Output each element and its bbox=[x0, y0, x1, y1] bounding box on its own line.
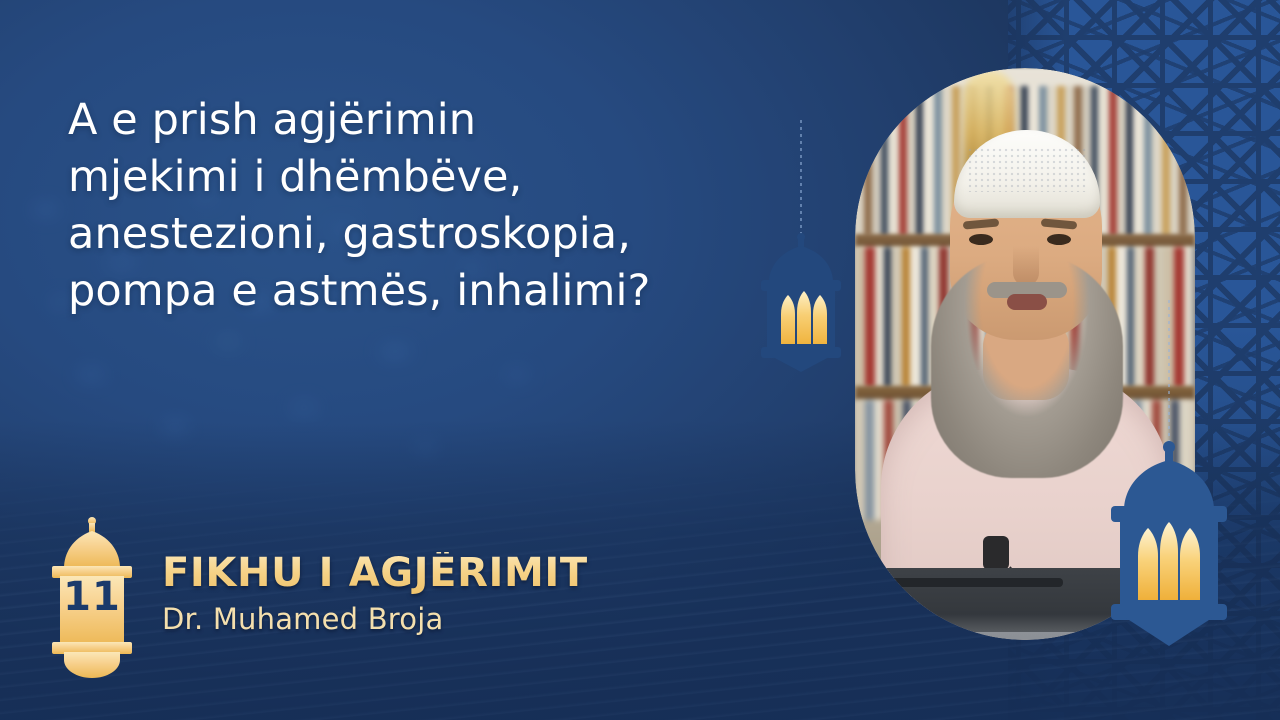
lower-third-banner: 11 FIKHU I AGJËRIMIT Dr. Muhamed Broja bbox=[44, 516, 588, 678]
presenter-eye-left bbox=[969, 234, 993, 245]
question-line-1: A e prish agjërimin bbox=[68, 92, 788, 149]
question-line-3: anestezioni, gastroskopia, bbox=[68, 206, 788, 263]
episode-number: 11 bbox=[44, 574, 140, 620]
series-title: FIKHU I AGJËRIMIT bbox=[162, 552, 588, 595]
lantern-chain-large bbox=[1168, 300, 1170, 448]
slide-canvas: A e prish agjërimin mjekimi i dhëmbëve, … bbox=[0, 0, 1280, 720]
presenter-mouth bbox=[1007, 294, 1047, 310]
lantern-large-icon bbox=[1105, 440, 1233, 646]
presenter-nose bbox=[1013, 246, 1039, 286]
banner-text-group: FIKHU I AGJËRIMIT Dr. Muhamed Broja bbox=[162, 552, 588, 641]
lantern-chain-small bbox=[800, 120, 802, 238]
presenter-name: Dr. Muhamed Broja bbox=[162, 602, 588, 636]
episode-badge-lantern-icon: 11 bbox=[44, 516, 140, 678]
question-line-4: pompa e astmës, inhalimi? bbox=[68, 263, 788, 320]
presenter-eye-right bbox=[1047, 234, 1071, 245]
question-title: A e prish agjërimin mjekimi i dhëmbëve, … bbox=[68, 92, 788, 320]
question-line-2: mjekimi i dhëmbëve, bbox=[68, 149, 788, 206]
lapel-microphone-icon bbox=[983, 536, 1009, 570]
